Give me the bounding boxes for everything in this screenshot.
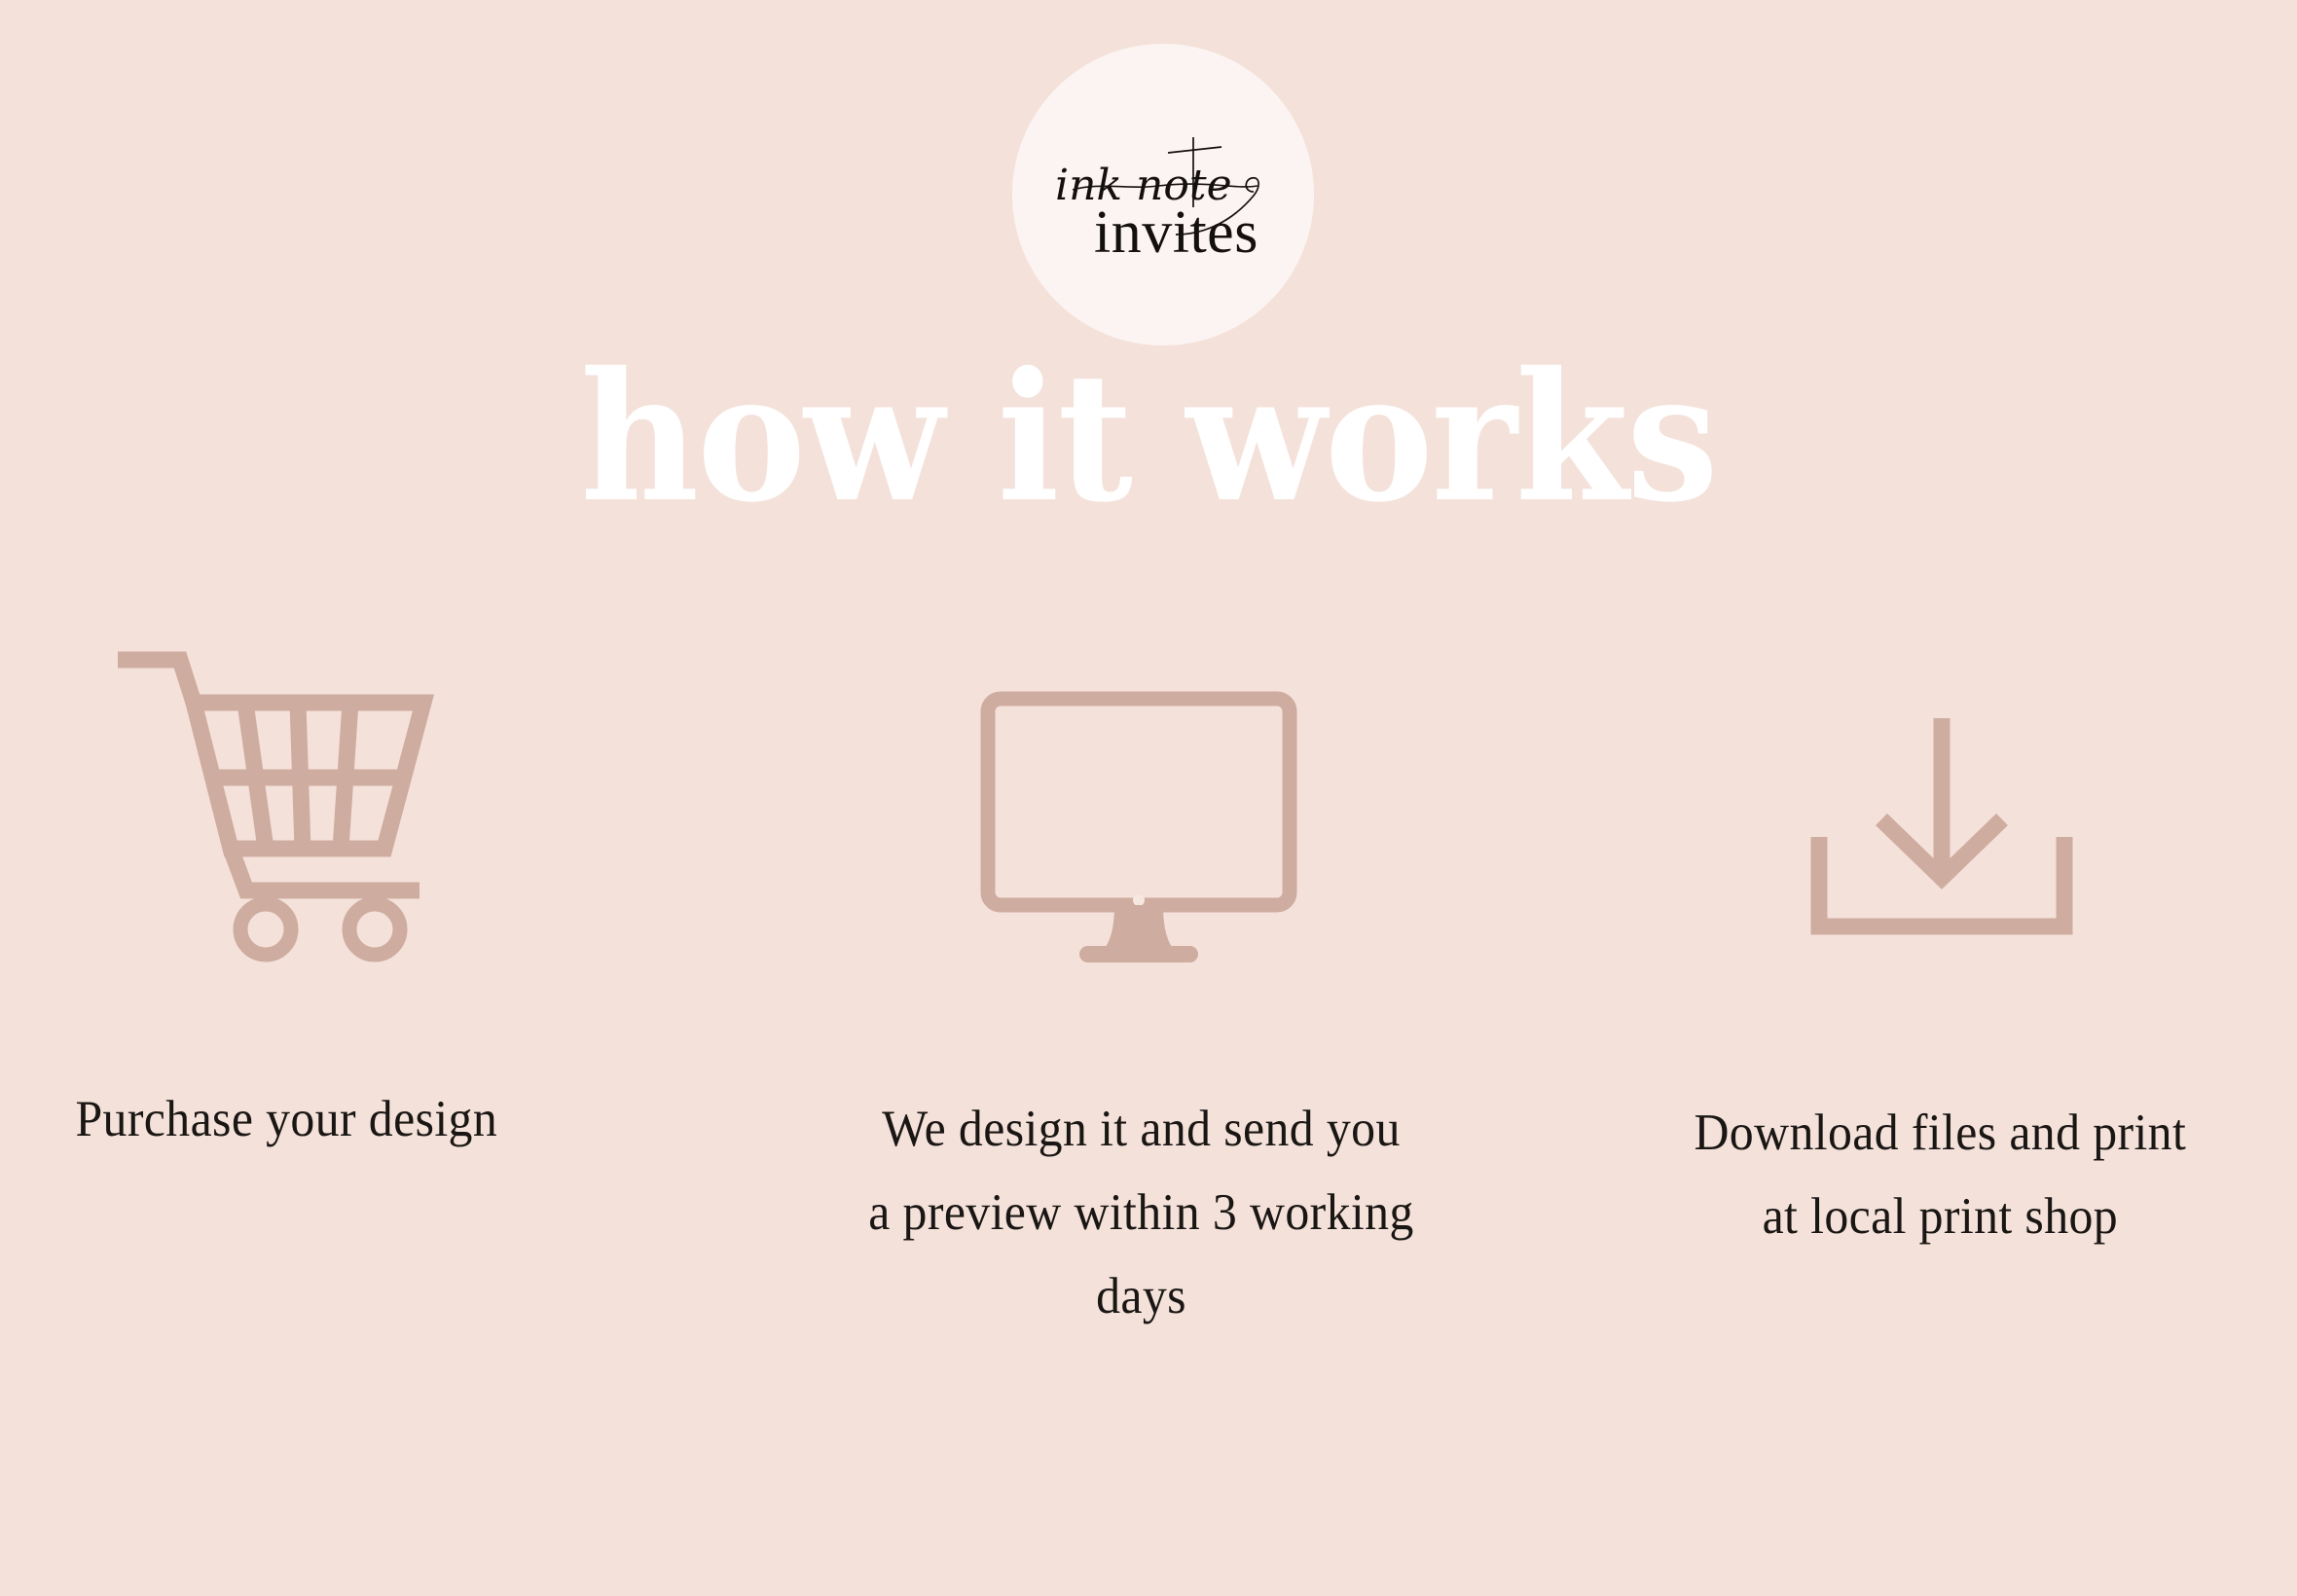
logo-word-text: invites: [1094, 199, 1258, 266]
step-caption: We design it and send you a preview with…: [866, 1088, 1415, 1339]
desktop-monitor-icon: [978, 642, 1299, 963]
step-item: Download files and print at local print …: [1531, 642, 2297, 1339]
cart-wheel-right: [349, 904, 400, 955]
page-title: how it works: [91, 348, 2205, 526]
download-icon: [1805, 642, 2078, 963]
step-caption: Download files and print at local print …: [1684, 1092, 2196, 1259]
monitor-indicator-dot: [1133, 894, 1145, 906]
shopping-cart-icon: [110, 642, 460, 963]
logo-t-crossbar: [1168, 147, 1221, 153]
cart-wheel-left: [240, 904, 291, 955]
step-item: We design it and send you a preview with…: [766, 642, 1532, 1339]
monitor-base: [1079, 946, 1198, 962]
logo-mark: ink note invites: [1012, 44, 1314, 345]
step-caption: Purchase your design: [3, 1078, 570, 1162]
monitor-screen: [988, 699, 1290, 905]
logo-badge: ink note invites: [1012, 44, 1314, 345]
step-item: Purchase your design: [0, 642, 766, 1339]
steps-row: Purchase your design We design it and se…: [0, 642, 2297, 1339]
